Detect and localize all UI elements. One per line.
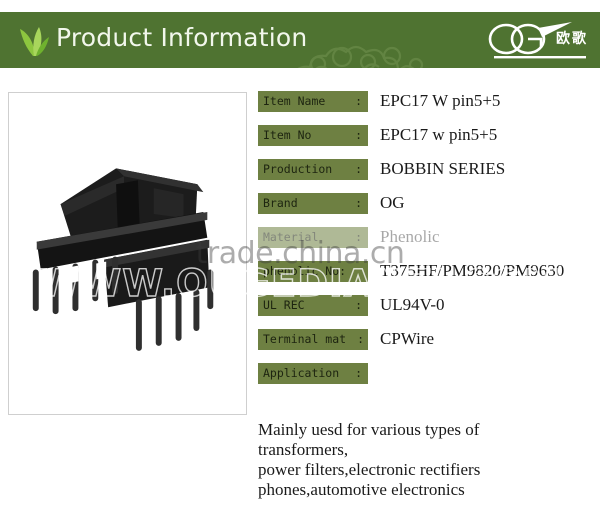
spec-table: Item Name : EPC17 W pin5+5 Item No : EPC… — [258, 88, 594, 394]
spec-colon: : — [355, 125, 362, 146]
spec-colon: : — [355, 193, 362, 214]
application-line: transformers, — [258, 440, 598, 460]
page-title: Product Information — [56, 23, 307, 52]
spec-colon: : — [357, 329, 364, 350]
spec-label: Brand : — [258, 193, 368, 214]
header-banner: Product Information 欧歌 — [0, 12, 600, 68]
spec-value: EPC17 w pin5+5 — [380, 122, 497, 148]
spec-colon: : — [355, 295, 362, 316]
spec-label: Application : — [258, 363, 368, 384]
table-row: Item No : EPC17 w pin5+5 — [258, 122, 594, 156]
spec-label-text: phenolic No: — [263, 264, 346, 278]
table-row: UL REC : UL94V-0 — [258, 292, 594, 326]
spec-value: BOBBIN SERIES — [380, 156, 505, 182]
spec-value: UL94V-0 — [380, 292, 445, 318]
table-row: Terminal mat : CPWire — [258, 326, 594, 360]
spec-label: Terminal mat : — [258, 329, 368, 350]
spec-value: OG — [380, 190, 405, 216]
spec-value: EPC17 W pin5+5 — [380, 88, 500, 114]
spec-label: UL REC : — [258, 295, 368, 316]
spec-label-text: Item No — [263, 128, 311, 142]
spec-label-text: Item Name — [263, 94, 325, 108]
spec-label-text: Material — [263, 230, 318, 244]
spec-label: Material : — [258, 227, 368, 248]
leaf-icon — [16, 24, 50, 58]
spec-label: phenolic No: — [258, 261, 368, 282]
table-row: Brand : OG — [258, 190, 594, 224]
application-line: Mainly uesd for various types of — [258, 420, 598, 440]
spec-label: Production : — [258, 159, 368, 180]
table-row: Material : Phenolic — [258, 224, 594, 258]
product-photo — [9, 93, 246, 413]
cloud-ornament-icon — [280, 24, 480, 68]
spec-value: CPWire — [380, 326, 434, 352]
spec-label: Item Name : — [258, 91, 368, 112]
spec-colon: : — [355, 227, 362, 248]
spec-label-text: Terminal mat — [263, 332, 346, 346]
spec-label-text: Production — [263, 162, 332, 176]
spec-colon: : — [355, 159, 362, 180]
spec-colon: : — [355, 91, 362, 112]
product-image-box — [8, 92, 247, 415]
spec-label-text: UL REC — [263, 298, 305, 312]
spec-value: T375HF/PM9820/PM9630 — [380, 258, 564, 284]
application-description: Mainly uesd for various types of transfo… — [258, 420, 598, 500]
spec-label: Item No : — [258, 125, 368, 146]
table-row: Application : — [258, 360, 594, 394]
table-row: Production : BOBBIN SERIES — [258, 156, 594, 190]
spec-label-text: Brand — [263, 196, 298, 210]
application-line: power filters,electronic rectifiers — [258, 460, 598, 480]
og-logo-cn-text: 欧歌 — [556, 32, 588, 46]
application-line: phones,automotive electronics — [258, 480, 598, 500]
spec-colon: : — [355, 363, 362, 384]
spec-value: Phenolic — [380, 224, 440, 250]
table-row: Item Name : EPC17 W pin5+5 — [258, 88, 594, 122]
table-row: phenolic No: T375HF/PM9820/PM9630 — [258, 258, 594, 292]
spec-label-text: Application — [263, 366, 339, 380]
